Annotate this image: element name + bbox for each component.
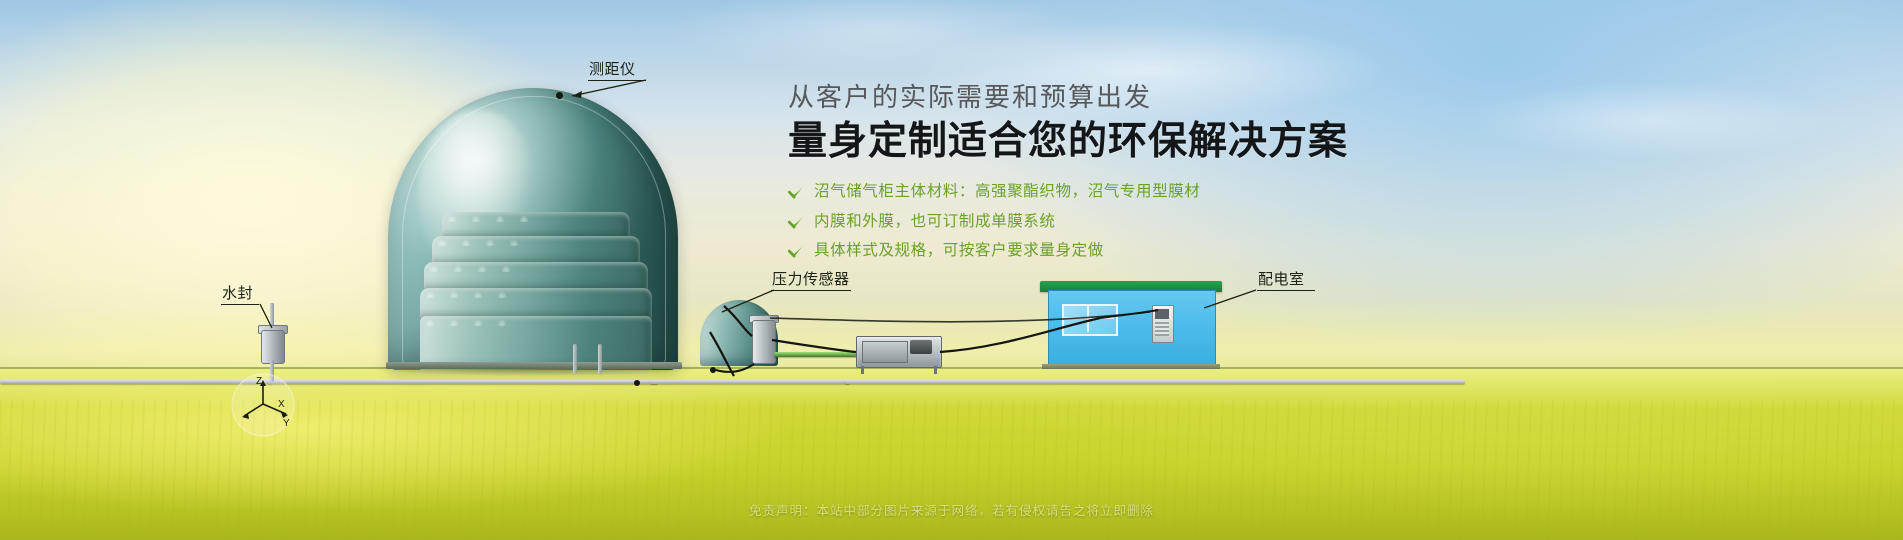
callout-water-seal-leader bbox=[248, 300, 328, 340]
membrane-ripple bbox=[424, 262, 648, 272]
feature-list: 沼气储气柜主体材料：高强聚酯织物，沼气专用型膜材 内膜和外膜，也可订制成单膜系统… bbox=[788, 183, 1408, 261]
hero-banner: 测距仪 水封 压力传感器 配电室 bbox=[0, 0, 1903, 540]
check-icon bbox=[788, 214, 805, 231]
membrane-step bbox=[424, 262, 648, 290]
axis-label-x: X bbox=[278, 399, 285, 410]
callout-pressure-sensor-leader bbox=[714, 286, 804, 336]
marketing-copy: 从客户的实际需要和预算出发 量身定制适合您的环保解决方案 沼气储气柜主体材料：高… bbox=[788, 82, 1408, 272]
disclaimer-text: 免责声明：本站中部分图片来源于网络，若有侵权请告之将立即删除 bbox=[0, 500, 1903, 519]
buried-pipeline bbox=[845, 380, 1465, 384]
blower-skid-frame bbox=[862, 341, 908, 363]
axis-orientation-gizmo: Z X Y bbox=[228, 370, 298, 440]
feature-item: 沼气储气柜主体材料：高强聚酯织物，沼气专用型膜材 bbox=[788, 183, 1408, 202]
ground-line bbox=[0, 367, 1903, 369]
copy-subtitle: 从客户的实际需要和预算出发 bbox=[788, 82, 1408, 113]
membrane-step bbox=[442, 212, 630, 238]
axis-label-y: Y bbox=[283, 418, 290, 429]
membrane-ripple bbox=[420, 288, 652, 298]
power-room-plinth bbox=[1042, 364, 1220, 369]
feature-text: 沼气储气柜主体材料：高强聚酯织物，沼气专用型膜材 bbox=[814, 183, 1200, 202]
membrane-ripple bbox=[432, 236, 640, 246]
buried-pipeline bbox=[650, 380, 850, 384]
skid-leg bbox=[861, 366, 864, 374]
check-icon bbox=[788, 243, 805, 260]
riser-pipe bbox=[598, 344, 602, 374]
membrane-ripple bbox=[420, 316, 652, 326]
window-mullion-horizontal bbox=[1062, 317, 1114, 319]
rangefinder-device bbox=[556, 92, 563, 99]
skid-leg bbox=[934, 366, 937, 374]
feature-text: 具体样式及规格，可按客户要求量身定做 bbox=[814, 242, 1104, 261]
control-panel-buttons bbox=[1155, 322, 1169, 336]
feature-item: 具体样式及规格，可按客户要求量身定做 bbox=[788, 242, 1408, 261]
callout-rangefinder-leader bbox=[550, 76, 670, 116]
dome-base-ring bbox=[386, 362, 682, 369]
membrane-step bbox=[420, 288, 652, 318]
gas-line bbox=[774, 352, 860, 357]
membrane-ripple bbox=[442, 212, 630, 222]
copy-headline: 量身定制适合您的环保解决方案 bbox=[788, 119, 1408, 165]
axis-label-z: Z bbox=[256, 376, 262, 387]
control-panel-screen bbox=[1155, 309, 1169, 319]
inner-membrane-stack bbox=[420, 212, 652, 370]
blower-motor bbox=[910, 340, 932, 354]
riser-pipe bbox=[573, 344, 577, 374]
membrane-step bbox=[432, 236, 640, 264]
buried-pipeline bbox=[268, 380, 658, 384]
callout-power-room-leader bbox=[1198, 286, 1278, 326]
feature-item: 内膜和外膜，也可订制成单膜系统 bbox=[788, 213, 1408, 232]
check-icon bbox=[788, 184, 805, 201]
feature-text: 内膜和外膜，也可订制成单膜系统 bbox=[814, 213, 1056, 232]
power-room-window bbox=[1062, 304, 1118, 336]
